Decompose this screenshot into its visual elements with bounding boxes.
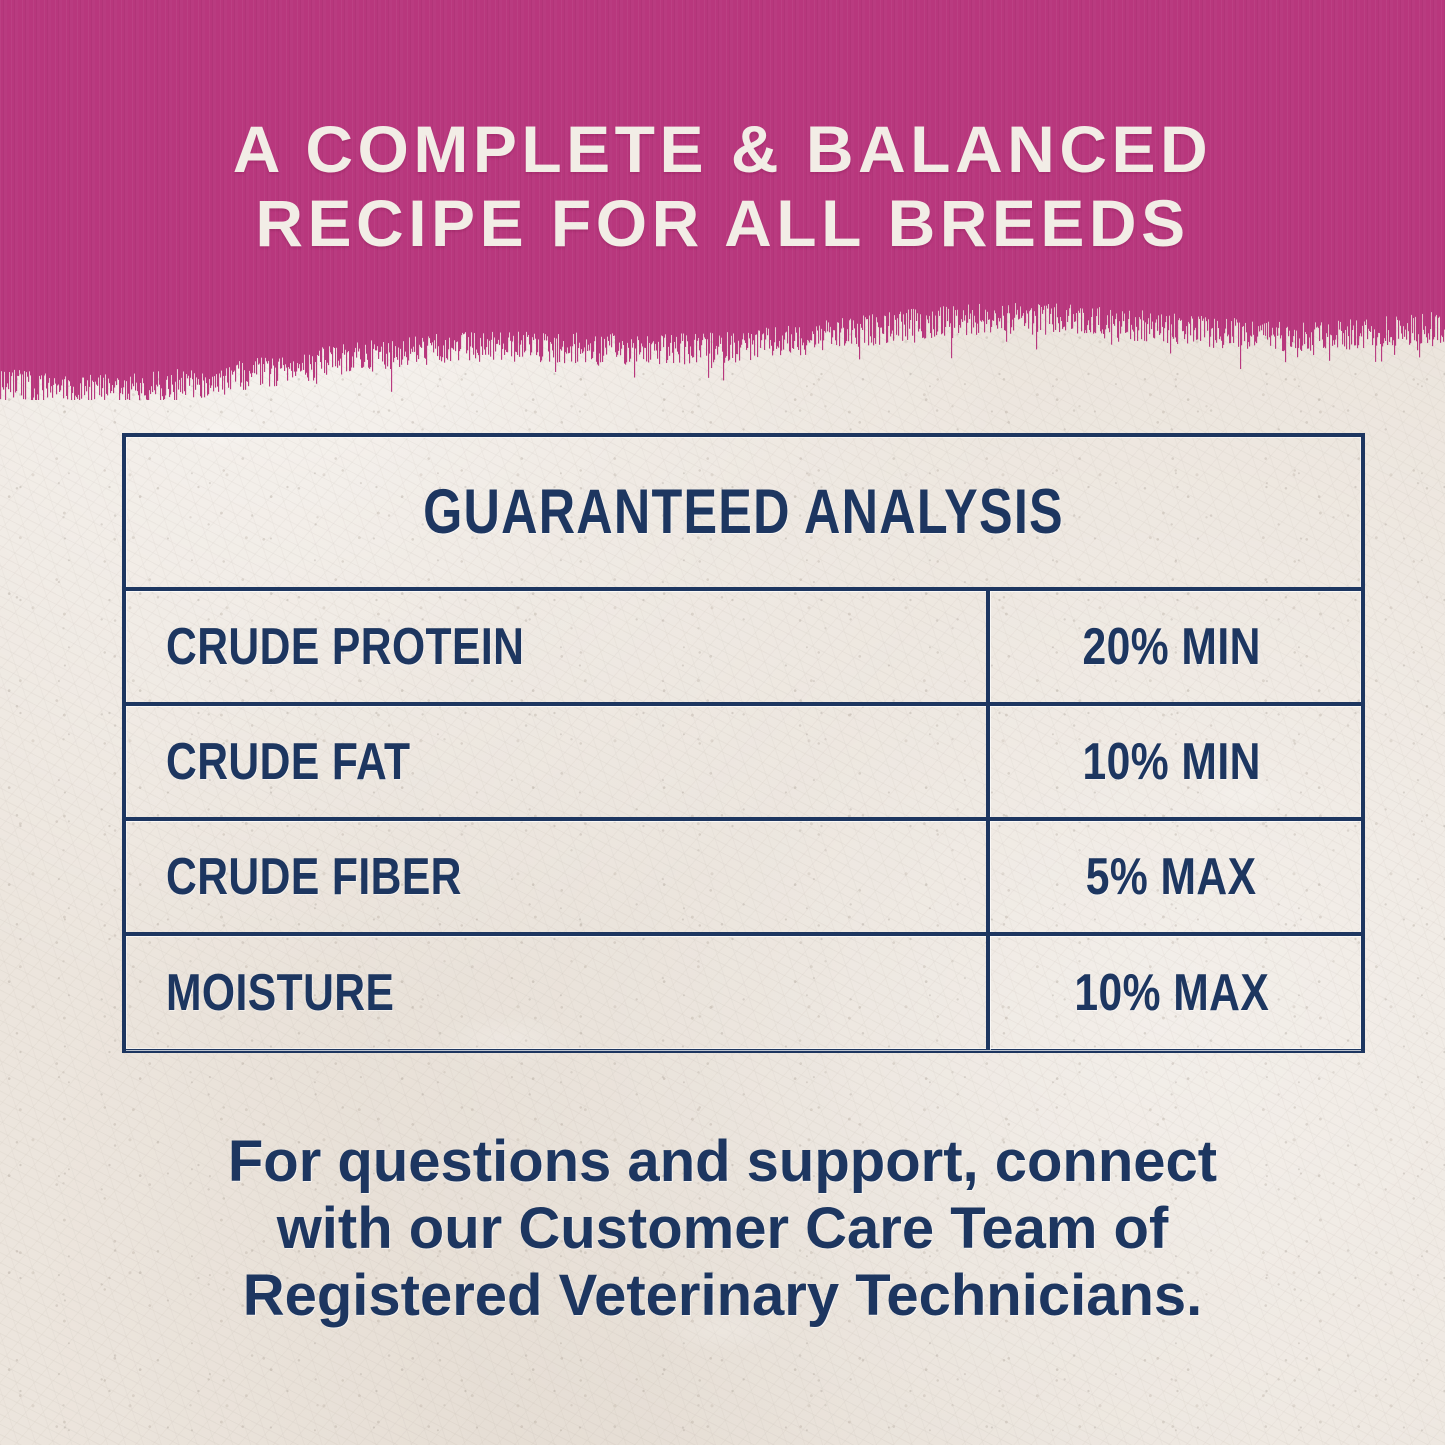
table-row: CRUDE FIBER 5% MAX <box>126 821 1361 936</box>
nutrient-label: CRUDE FAT <box>166 732 411 792</box>
nutrient-label-cell: CRUDE PROTEIN <box>126 591 990 702</box>
customer-care-note: For questions and support, connect with … <box>96 1128 1349 1329</box>
headline-line-2: RECIPE FOR ALL BREEDS <box>0 186 1445 260</box>
table-row: MOISTURE 10% MAX <box>126 936 1361 1050</box>
nutrient-value-cell: 20% MIN <box>990 591 1361 702</box>
banner-headline: A COMPLETE & BALANCED RECIPE FOR ALL BRE… <box>0 112 1445 260</box>
nutrient-value: 20% MIN <box>1082 617 1260 677</box>
footer-line-2: with our Customer Care Team of <box>96 1195 1349 1262</box>
headline-line-1: A COMPLETE & BALANCED <box>233 112 1212 186</box>
product-label-panel: A COMPLETE & BALANCED RECIPE FOR ALL BRE… <box>0 0 1445 1445</box>
footer-line-1: For questions and support, connect <box>96 1128 1349 1195</box>
table-row: CRUDE FAT 10% MIN <box>126 706 1361 821</box>
nutrient-value: 10% MAX <box>1074 963 1269 1023</box>
guaranteed-analysis-table: GUARANTEED ANALYSIS CRUDE PROTEIN 20% MI… <box>122 433 1365 1053</box>
nutrient-label-cell: CRUDE FIBER <box>126 821 990 932</box>
nutrient-label: CRUDE PROTEIN <box>166 617 524 677</box>
nutrient-label-cell: CRUDE FAT <box>126 706 990 817</box>
table-row: CRUDE PROTEIN 20% MIN <box>126 591 1361 706</box>
nutrient-label: CRUDE FIBER <box>166 847 462 907</box>
nutrient-label: MOISTURE <box>166 963 394 1023</box>
nutrient-value: 5% MAX <box>1086 847 1257 907</box>
nutrient-value-cell: 10% MAX <box>990 936 1361 1050</box>
nutrient-value-cell: 5% MAX <box>990 821 1361 932</box>
nutrient-label-cell: MOISTURE <box>126 936 990 1050</box>
guaranteed-analysis-title: GUARANTEED ANALYSIS <box>423 476 1064 548</box>
nutrient-value-cell: 10% MIN <box>990 706 1361 817</box>
nutrient-value: 10% MIN <box>1082 732 1260 792</box>
footer-line-3: Registered Veterinary Technicians. <box>96 1262 1349 1329</box>
guaranteed-analysis-header: GUARANTEED ANALYSIS <box>126 437 1361 591</box>
